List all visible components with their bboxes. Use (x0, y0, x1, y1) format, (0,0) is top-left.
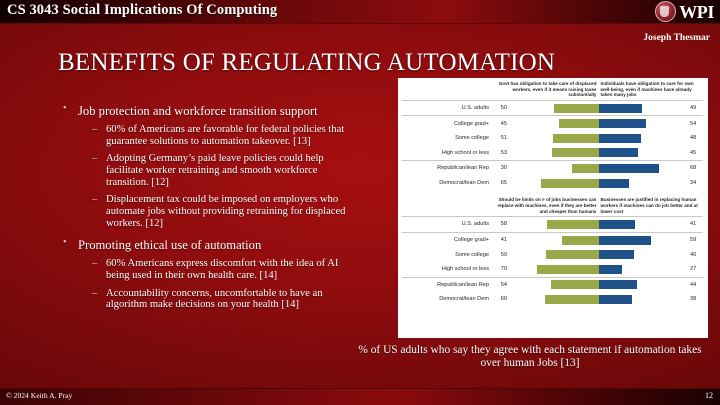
chart-divider (402, 190, 703, 197)
bar-blue (599, 148, 639, 157)
row-bars: 41 59 (494, 236, 703, 245)
bar-right-wrap (599, 164, 688, 173)
sub-bullet-item: Adopting Germany’s paid leave policies c… (92, 153, 357, 188)
row-value-green: 45 (494, 121, 510, 127)
bar-green (562, 236, 598, 245)
bar-left-wrap (510, 164, 599, 173)
copyright-text: © 2024 Keith A. Pray (6, 391, 72, 400)
row-label: College grad+ (402, 121, 494, 127)
presenter-name: Joseph Thesmar (643, 33, 710, 43)
bar-blue (599, 119, 647, 128)
row-bars: 59 40 (494, 250, 703, 259)
bar-area (510, 164, 687, 173)
row-value-blue: 40 (687, 252, 703, 258)
row-value-green: 60 (494, 296, 510, 302)
bar-left-wrap (510, 148, 599, 157)
chart-row: College grad+ 45 54 (402, 115, 703, 131)
bar-area (510, 250, 687, 259)
row-bars: 60 38 (494, 295, 703, 304)
bar-left-wrap (510, 295, 599, 304)
bar-area (510, 148, 687, 157)
bar-blue (599, 280, 638, 289)
chart-row: Republican/lean Rep 30 68 (402, 160, 703, 176)
sub-bullet-item: Displacement tax could be imposed on emp… (92, 194, 357, 229)
legend-label-green: Should be limits on # of jobs businesses… (494, 197, 599, 216)
bar-blue (599, 236, 651, 245)
row-label: Republican/lean Rep (402, 165, 494, 171)
bar-left-wrap (510, 265, 599, 274)
bullet-item: Promoting ethical use of automation (62, 238, 357, 252)
row-value-green: 41 (494, 237, 510, 243)
bar-blue (599, 104, 642, 113)
row-value-green: 50 (494, 105, 510, 111)
bar-blue (599, 134, 641, 143)
bar-blue (599, 265, 623, 274)
bar-area (510, 280, 687, 289)
row-label: Some college (402, 252, 494, 258)
bar-right-wrap (599, 265, 688, 274)
chart-row: U.S. adults 58 41 (402, 216, 703, 232)
row-value-blue: 49 (687, 105, 703, 111)
chart-panel: Govt has obligation to take care of disp… (398, 78, 708, 338)
bar-right-wrap (599, 295, 688, 304)
row-label: Democrat/lean Dem (402, 180, 494, 186)
row-value-blue: 48 (687, 135, 703, 141)
bar-left-wrap (510, 220, 599, 229)
slide-header-bar: CS 3043 Social Implications Of Computing… (0, 0, 720, 24)
bullet-item: Job protection and workforce transition … (62, 104, 357, 118)
bar-area (510, 119, 687, 128)
chart-row: High school or less 53 45 (402, 146, 703, 161)
row-bars: 53 45 (494, 148, 703, 157)
chart-row: Republican/lean Rep 54 44 (402, 277, 703, 293)
bar-green (572, 164, 599, 173)
bar-left-wrap (510, 119, 599, 128)
row-value-green: 70 (494, 266, 510, 272)
row-label: U.S. adults (402, 105, 494, 111)
row-label: Republican/lean Rep (402, 282, 494, 288)
bar-right-wrap (599, 220, 688, 229)
bar-green (554, 104, 598, 113)
bar-area (510, 236, 687, 245)
row-value-green: 58 (494, 221, 510, 227)
row-label: U.S. adults (402, 221, 494, 227)
bar-left-wrap (510, 236, 599, 245)
row-bars: 45 54 (494, 119, 703, 128)
sub-bullet-item: 60% of Americans are favorable for feder… (92, 124, 357, 147)
presentation-slide: CS 3043 Social Implications Of Computing… (0, 0, 720, 405)
bullet-group-1: Job protection and workforce transition … (62, 104, 357, 229)
legend-label-blue: Individuals have obligation to care for … (599, 81, 704, 100)
page-title: BENEFITS OF REGULATING AUTOMATION (58, 49, 555, 77)
row-value-green: 54 (494, 282, 510, 288)
bar-right-wrap (599, 280, 688, 289)
chart-rows-2: U.S. adults 58 41 College grad+ 41 (402, 216, 703, 307)
bar-right-wrap (599, 179, 688, 188)
course-title: CS 3043 Social Implications Of Computing (7, 2, 277, 19)
bar-green (559, 119, 599, 128)
row-bars: 51 48 (494, 134, 703, 143)
chart-block-1: Govt has obligation to take care of disp… (402, 81, 703, 190)
bar-green (545, 295, 598, 304)
row-value-blue: 41 (687, 221, 703, 227)
wpi-logo: WPI (655, 1, 714, 22)
row-bars: 50 49 (494, 104, 703, 113)
slide-footer-bar: © 2024 Keith A. Pray 12 (0, 388, 720, 405)
wpi-logo-text: WPI (679, 3, 714, 21)
row-value-green: 53 (494, 150, 510, 156)
row-bars: 70 27 (494, 265, 703, 274)
legend-label-green: Govt has obligation to take care of disp… (494, 81, 599, 100)
row-value-blue: 68 (687, 165, 703, 171)
bar-right-wrap (599, 119, 688, 128)
row-bars: 30 68 (494, 164, 703, 173)
bar-green (553, 134, 598, 143)
row-label: High school or less (402, 266, 494, 272)
row-value-green: 30 (494, 165, 510, 171)
chart-caption: % of US adults who say they agree with e… (352, 344, 708, 371)
sub-bullet-item: Accountability concerns, uncomfortable t… (92, 288, 357, 311)
bar-area (510, 295, 687, 304)
bar-green (551, 280, 599, 289)
row-value-blue: 44 (687, 282, 703, 288)
chart-row: U.S. adults 50 49 (402, 100, 703, 116)
bar-green (537, 265, 599, 274)
chart-row: Democrat/lean Dem 65 34 (402, 176, 703, 191)
row-value-green: 51 (494, 135, 510, 141)
bar-green (546, 250, 598, 259)
row-bars: 65 34 (494, 179, 703, 188)
chart-row: Democrat/lean Dem 60 38 (402, 292, 703, 307)
chart-row: Some college 59 40 (402, 247, 703, 262)
legend-label-blue: Businesses are justified in replacing hu… (599, 197, 704, 216)
row-label: High school or less (402, 150, 494, 156)
row-value-green: 65 (494, 180, 510, 186)
bullet-group-2: Promoting ethical use of automation 60% … (62, 238, 357, 311)
bar-green (547, 220, 598, 229)
wpi-seal-icon (655, 1, 676, 22)
bar-right-wrap (599, 250, 688, 259)
row-value-blue: 45 (687, 150, 703, 156)
bar-left-wrap (510, 280, 599, 289)
row-label: College grad+ (402, 237, 494, 243)
bar-area (510, 265, 687, 274)
bar-left-wrap (510, 250, 599, 259)
bar-right-wrap (599, 148, 688, 157)
bar-blue (599, 179, 629, 188)
page-number: 12 (705, 391, 713, 400)
row-value-blue: 38 (687, 296, 703, 302)
bar-blue (599, 164, 659, 173)
bar-right-wrap (599, 236, 688, 245)
bar-right-wrap (599, 104, 688, 113)
row-bars: 58 41 (494, 220, 703, 229)
row-value-green: 59 (494, 252, 510, 258)
bar-blue (599, 250, 634, 259)
chart-row: High school or less 70 27 (402, 262, 703, 277)
bar-area (510, 179, 687, 188)
row-value-blue: 34 (687, 180, 703, 186)
bar-blue (599, 220, 635, 229)
row-label: Some college (402, 135, 494, 141)
bar-area (510, 220, 687, 229)
bar-right-wrap (599, 134, 688, 143)
row-value-blue: 27 (687, 266, 703, 272)
chart-legend-2: Should be limits on # of jobs businesses… (402, 197, 703, 216)
bar-left-wrap (510, 179, 599, 188)
chart-row: Some college 51 48 (402, 131, 703, 146)
row-bars: 54 44 (494, 280, 703, 289)
chart-block-2: Should be limits on # of jobs businesses… (402, 197, 703, 306)
row-value-blue: 54 (687, 121, 703, 127)
row-label: Democrat/lean Dem (402, 296, 494, 302)
legend-spacer (402, 81, 494, 100)
bullet-list: Job protection and workforce transition … (62, 104, 357, 320)
chart-rows-1: U.S. adults 50 49 College grad+ 45 (402, 100, 703, 191)
bar-green (541, 179, 599, 188)
chart-legend-1: Govt has obligation to take care of disp… (402, 81, 703, 100)
bar-left-wrap (510, 134, 599, 143)
bar-green (552, 148, 599, 157)
row-value-blue: 59 (687, 237, 703, 243)
bar-blue (599, 295, 633, 304)
chart-row: College grad+ 41 59 (402, 232, 703, 248)
bar-area (510, 134, 687, 143)
legend-spacer (402, 197, 494, 216)
bar-area (510, 104, 687, 113)
bar-left-wrap (510, 104, 599, 113)
sub-bullet-item: 60% Americans express discomfort with th… (92, 258, 357, 281)
